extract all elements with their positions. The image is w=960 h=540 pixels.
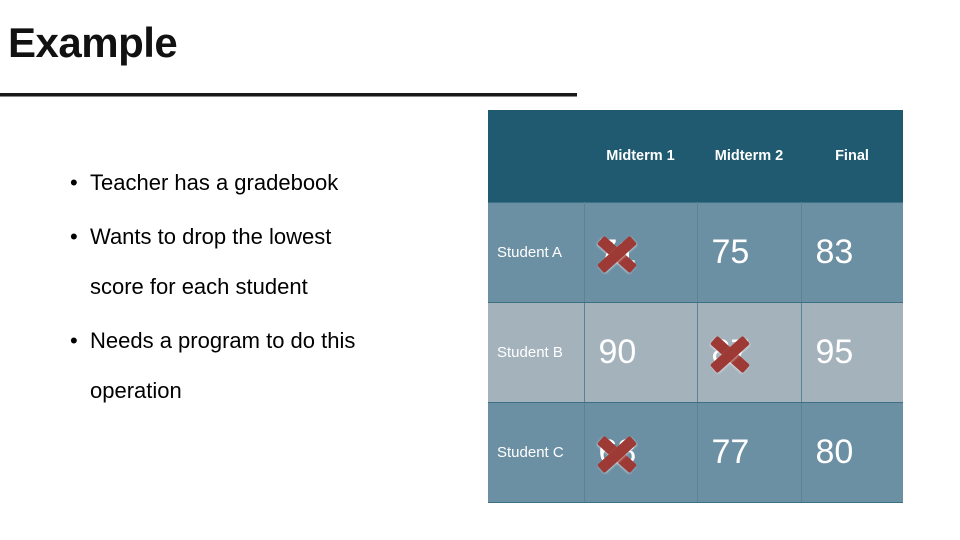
cell-midterm2: 75 — [697, 203, 801, 303]
gradebook-table: Midterm 1 Midterm 2 Final Student A 71 7… — [488, 110, 903, 503]
cell-midterm1: 90 — [584, 303, 697, 403]
crossed-score: 71 — [599, 233, 637, 272]
bullet-list: • Teacher has a gradebook • Wants to dro… — [60, 158, 460, 420]
table-header-row: Midterm 1 Midterm 2 Final — [488, 110, 903, 203]
cell-final: 80 — [801, 403, 903, 503]
cell-final: 95 — [801, 303, 903, 403]
list-item-label: Teacher has a gradebook — [90, 158, 338, 208]
page-title: Example — [8, 22, 177, 64]
column-header-midterm2: Midterm 2 — [697, 110, 801, 203]
list-item: • Teacher has a gradebook — [60, 158, 460, 208]
title-divider — [0, 93, 577, 97]
column-header-final: Final — [801, 110, 903, 203]
score-value: 68 — [599, 433, 637, 471]
table-row: Student B 90 87 95 — [488, 303, 903, 403]
crossed-score: 87 — [712, 333, 750, 372]
cell-final: 83 — [801, 203, 903, 303]
cell-midterm2: 87 — [697, 303, 801, 403]
cell-midterm1: 71 — [584, 203, 697, 303]
cell-student-name: Student C — [488, 403, 584, 503]
cell-student-name: Student A — [488, 203, 584, 303]
bullet-marker-icon: • — [60, 212, 90, 262]
bullet-marker-icon: • — [60, 158, 90, 208]
table-row: Student A 71 75 83 — [488, 203, 903, 303]
bullet-marker-icon: • — [60, 316, 90, 366]
score-value: 71 — [599, 233, 637, 271]
list-item-label: Wants to drop the lowest score for each … — [90, 212, 331, 312]
list-item: • Wants to drop the lowest score for eac… — [60, 212, 460, 312]
list-item-label: Needs a program to do this operation — [90, 316, 355, 416]
column-header-student — [488, 110, 584, 203]
table-row: Student C 68 77 80 — [488, 403, 903, 503]
column-header-midterm1: Midterm 1 — [584, 110, 697, 203]
cell-midterm1: 68 — [584, 403, 697, 503]
cell-student-name: Student B — [488, 303, 584, 403]
cell-midterm2: 77 — [697, 403, 801, 503]
crossed-score: 68 — [599, 433, 637, 472]
list-item: • Needs a program to do this operation — [60, 316, 460, 416]
score-value: 87 — [712, 333, 750, 371]
